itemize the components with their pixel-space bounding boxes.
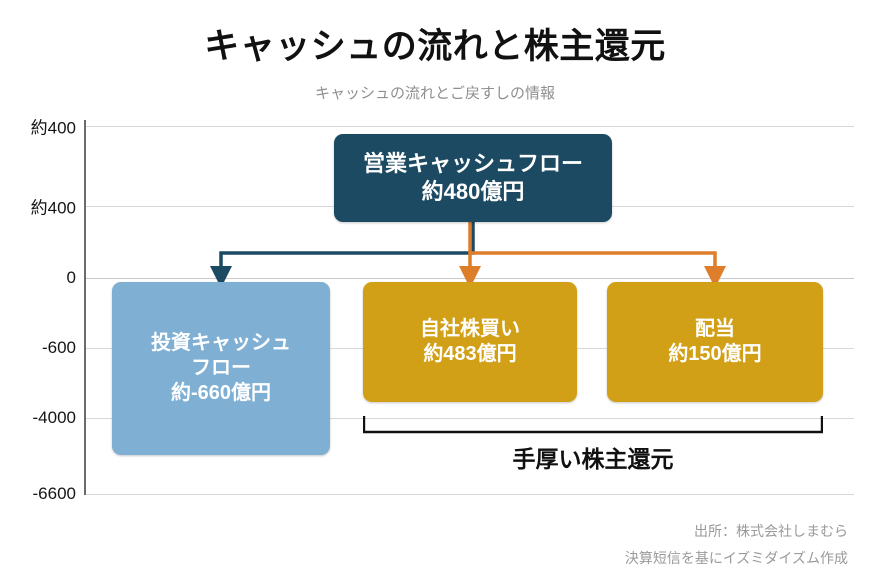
flow-line-ocf-to-icf [221, 222, 473, 268]
node-dividend[interactable]: 配当 約150億円 [607, 282, 823, 402]
node-dividend-label: 配当 [695, 317, 735, 342]
node-ocf-value: 約480億円 [422, 178, 525, 206]
source-line-1: 出所：株式会社しまむら [328, 521, 848, 541]
node-ocf-label: 営業キャッシュフロー [363, 150, 583, 178]
node-buyback-label: 自社株買い [420, 317, 520, 342]
chart-canvas: キャッシュの流れと株主還元 キャッシュの流れとご戻すしの情報 約400 約400… [0, 0, 870, 583]
node-share-buyback[interactable]: 自社株買い 約483億円 [363, 282, 577, 402]
node-investing-cash-flow[interactable]: 投資キャッシュ フロー 約-660億円 [112, 282, 330, 455]
node-icf-label-line2: フロー [191, 356, 251, 381]
node-icf-value: 約-660億円 [171, 381, 271, 406]
shareholder-return-bracket [363, 416, 823, 434]
node-dividend-value: 約150億円 [668, 342, 761, 367]
node-operating-cash-flow[interactable]: 営業キャッシュフロー 約480億円 [334, 134, 612, 222]
bracket-label: 手厚い株主還元 [363, 440, 823, 474]
source-line-2: 決算短信を基にイズミダイズム作成 [328, 548, 848, 568]
flow-line-ocf-to-dividend [470, 253, 715, 268]
node-icf-label-line1: 投資キャッシュ [151, 331, 291, 356]
bracket-path [364, 416, 822, 432]
node-buyback-value: 約483億円 [423, 342, 516, 367]
